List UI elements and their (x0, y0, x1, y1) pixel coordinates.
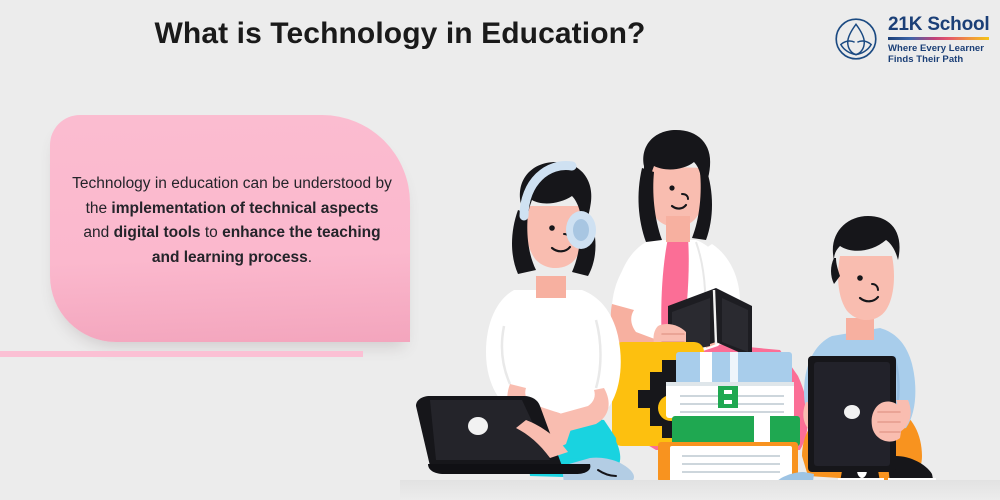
slide-canvas: What is Technology in Education? 21K Sch… (0, 0, 1000, 500)
brand-tagline-line1: Where Every Learner (888, 43, 989, 54)
accent-bar (0, 351, 363, 357)
brand-logo[interactable]: 21K School Where Every Learner Finds The… (833, 13, 989, 65)
figure-girl-laptop (416, 162, 634, 486)
brand-name: 21K School (888, 15, 989, 35)
brand-text-block: 21K School Where Every Learner Finds The… (888, 13, 989, 65)
book-stack (658, 352, 800, 482)
callout-text: Technology in education can be understoo… (72, 172, 392, 270)
brand-tagline-line2: Finds Their Path (888, 54, 989, 65)
students-illustration (400, 120, 1000, 500)
callout-card: Technology in education can be understoo… (50, 115, 410, 342)
lotus-circle-icon (833, 16, 879, 62)
page-title: What is Technology in Education? (0, 17, 800, 51)
brand-gradient-rule (888, 37, 989, 40)
